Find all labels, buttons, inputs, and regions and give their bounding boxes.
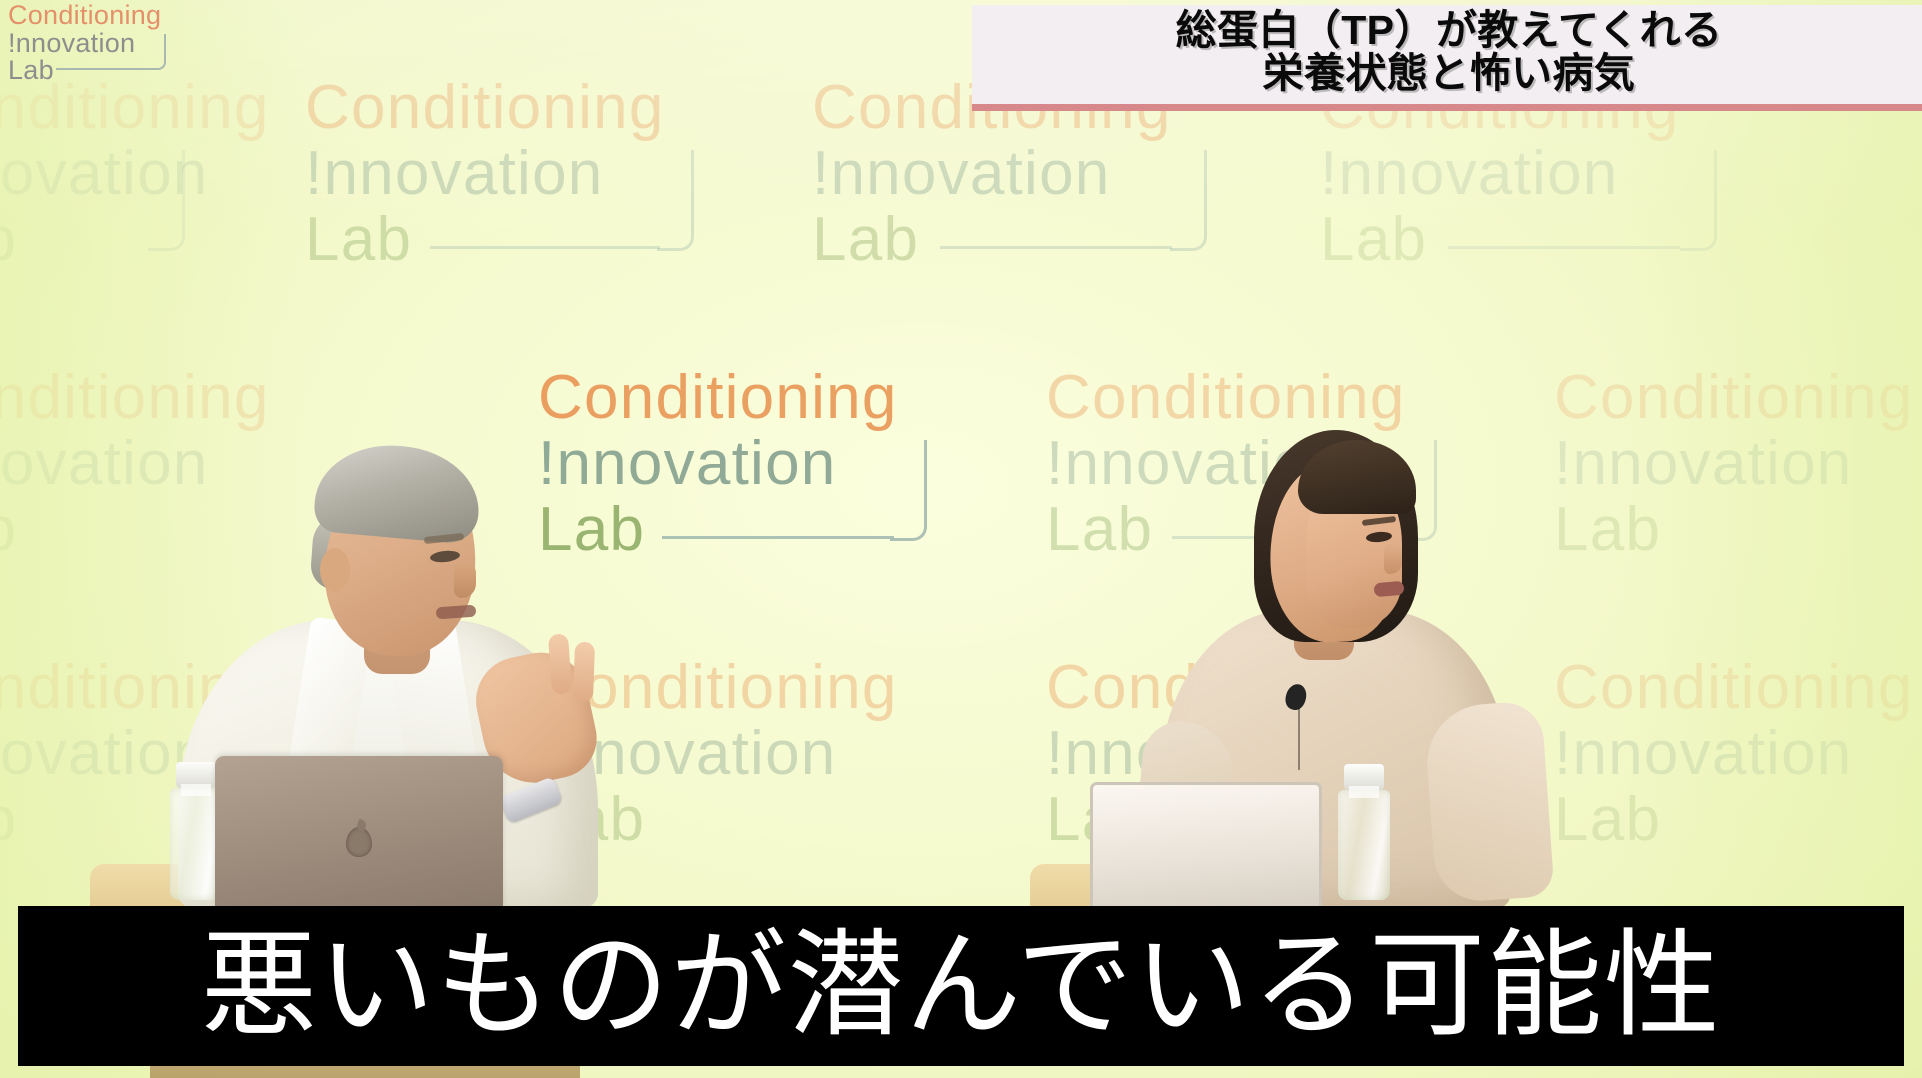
nose: [454, 562, 476, 598]
logo-underline: [56, 68, 146, 70]
watermark-line-3: Lab: [1554, 500, 1914, 566]
watermark-line-1: Conditioning: [0, 78, 270, 144]
backdrop-watermark: Conditioning !nnovation Lab: [1554, 368, 1914, 566]
title-line-1: 総蛋白（TP）が教えてくれる: [994, 9, 1904, 52]
bottle-neck: [181, 784, 211, 796]
watermark-line-2: !nnovation: [305, 144, 665, 210]
tablet-device: [1090, 782, 1322, 910]
watermark-bracket: [1680, 150, 1717, 251]
sleeve-right: [1423, 700, 1554, 904]
watermark-line-1: Conditioning: [538, 368, 898, 434]
watermark-line-2: !nnovation: [1554, 724, 1914, 790]
logo-line-1: Conditioning: [8, 2, 168, 30]
finger: [573, 642, 595, 703]
watermark-underline: [662, 536, 894, 539]
nose: [1384, 544, 1402, 574]
ear: [320, 548, 350, 592]
mouth: [436, 605, 477, 620]
title-line-2: 栄養状態と怖い病気: [994, 52, 1904, 95]
watermark-line-3: Lab: [305, 210, 665, 276]
watermark-line-3: Lab: [1554, 790, 1914, 856]
watermark-line-1: Conditioning: [1554, 658, 1914, 724]
title-banner: 総蛋白（TP）が教えてくれる 栄養状態と怖い病気: [972, 5, 1922, 111]
watermark-line-3: Lab: [812, 210, 1172, 276]
watermark-line-2: !nnovation: [1320, 144, 1680, 210]
watermark-bracket: [1170, 150, 1207, 251]
watermark-line-1: Conditioning: [1554, 368, 1914, 434]
watermark-line-2: !nnovation: [812, 144, 1172, 210]
watermark-line-1: Conditioning: [0, 368, 270, 434]
bottle-neck: [1349, 786, 1379, 798]
watermark-line-3: Lab: [0, 210, 270, 276]
watermark-underline: [1448, 246, 1680, 249]
apple-logo-icon: [346, 827, 372, 857]
channel-logo: Conditioning !nnovation Lab: [8, 2, 168, 82]
watermark-underline: [940, 246, 1172, 249]
finger: [548, 633, 572, 694]
subtitle-text: 悪いものが潜んでいる可能性: [201, 928, 1721, 1044]
backdrop-watermark: Conditioning !nnovation Lab: [1554, 658, 1914, 856]
logo-bracket: [142, 34, 166, 70]
watermark-bracket: [657, 150, 694, 251]
gray-hair: [312, 439, 483, 545]
subtitle-bar: 悪いものが潜んでいる可能性: [18, 906, 1904, 1066]
watermark-bracket: [148, 150, 185, 251]
watermark-line-3: Lab: [1320, 210, 1680, 276]
microphone-cord: [1298, 704, 1300, 770]
watermark-bracket: [890, 440, 927, 541]
water-bottle-right: [1338, 790, 1390, 900]
macbook-laptop: [215, 756, 503, 910]
watermark-line-2: !nnovation: [0, 144, 270, 210]
watermark-underline: [430, 246, 660, 249]
watermark-line-2: !nnovation: [1554, 434, 1914, 500]
backdrop-watermark: Conditioning !nnovation Lab: [0, 78, 270, 276]
watermark-line-1: Conditioning: [305, 78, 665, 144]
video-frame: Conditioning !nnovation Lab Conditioning…: [0, 0, 1922, 1078]
